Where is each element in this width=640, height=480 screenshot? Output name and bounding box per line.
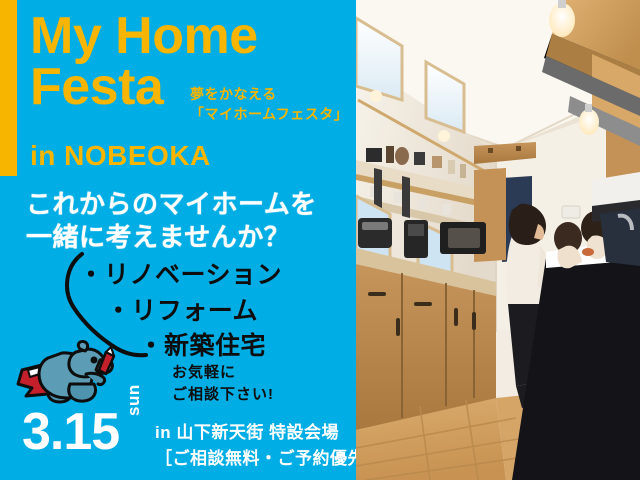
callout-line2: ご相談下さい!	[172, 384, 274, 406]
headline: これからのマイホームを 一緒に考えませんか？	[26, 188, 317, 255]
service-item-renovation: ・リノベーション	[0, 258, 300, 294]
callout-text: お気軽に ご相談下さい!	[172, 362, 274, 406]
brand-tagline-line2: 「マイホームフェスタ」	[190, 104, 348, 124]
accent-bar	[0, 0, 17, 176]
event-note: ［ご相談無料・ご予約優先］	[155, 446, 356, 472]
event-venue-block: in 山下新天街 特設会場 ［ご相談無料・ご予約優先］	[155, 420, 356, 471]
brand-location: in NOBEOKA	[30, 140, 211, 172]
poster-banner: My Home Festa 夢をかなえる 「マイホームフェスタ」 in NOBE…	[0, 0, 640, 480]
event-day-of-week: sun	[124, 384, 144, 416]
interior-kitchen-photo	[356, 0, 640, 480]
event-venue: in 山下新天街 特設会場	[155, 420, 356, 446]
brand-tagline: 夢をかなえる 「マイホームフェスタ」	[190, 84, 348, 125]
headline-line1: これからのマイホームを	[26, 188, 317, 221]
event-date: 3.15	[22, 406, 119, 458]
brand-tagline-line1: 夢をかなえる	[190, 84, 348, 104]
headline-line2: 一緒に考えませんか？	[26, 221, 317, 254]
left-text-panel: My Home Festa 夢をかなえる 「マイホームフェスタ」 in NOBE…	[0, 0, 356, 480]
brand-title-line1: My Home	[30, 12, 356, 61]
callout-line1: お気軽に	[172, 362, 274, 384]
bear-mascot-icon	[14, 322, 134, 408]
